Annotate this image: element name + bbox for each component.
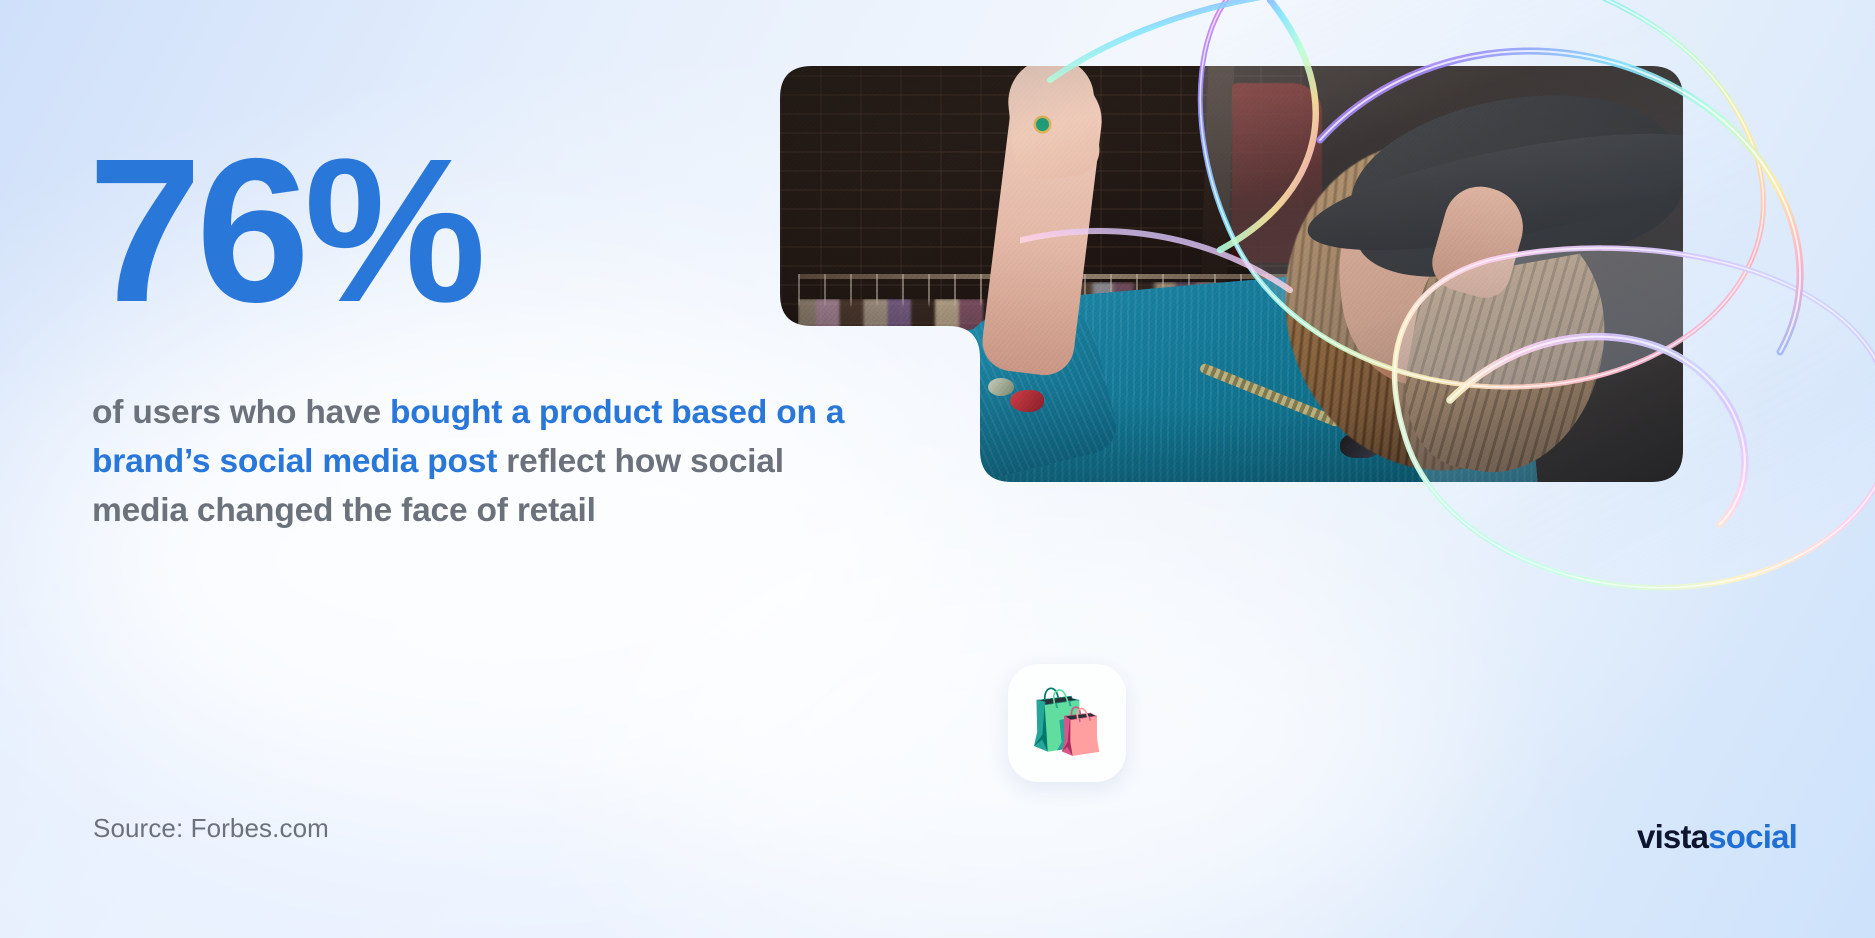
infographic-canvas: 76% of users who have bought a product b…: [0, 0, 1875, 938]
shopping-bags-icon: 🛍️: [1028, 692, 1105, 754]
copy-lead: of users who have: [92, 394, 390, 431]
stat-percentage: 76%: [88, 128, 480, 333]
vistasocial-logo: vistasocial: [1637, 818, 1797, 856]
logo-part-vista: vista: [1637, 818, 1708, 855]
shopping-bags-badge: 🛍️: [1008, 664, 1126, 782]
background-light-wash-left: [40, 300, 940, 820]
stat-description: of users who have bought a product based…: [92, 388, 852, 535]
hero-photo-image: [780, 66, 1683, 482]
logo-part-social: social: [1708, 818, 1797, 855]
photo-vignette: [780, 66, 1683, 482]
hero-photo: [780, 66, 1683, 482]
source-attribution: Source: Forbes.com: [93, 813, 329, 844]
